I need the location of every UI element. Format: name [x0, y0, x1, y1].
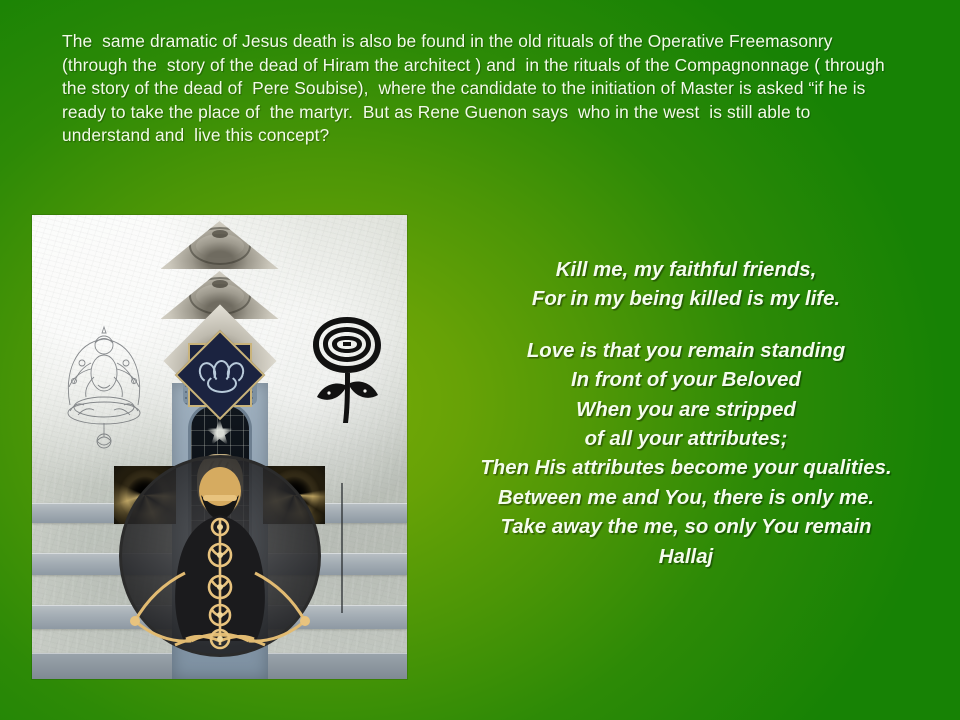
poem-line: Love is that you remain standing: [428, 337, 944, 366]
poem-line: For in my being killed is my life.: [428, 285, 944, 314]
plumb-line: [341, 483, 343, 613]
poem-line: When you are stripped: [428, 396, 944, 425]
poem-line: Then His attributes become your qualitie…: [428, 454, 944, 483]
eye-icon: [212, 230, 228, 238]
body-paragraph: The same dramatic of Jesus death is also…: [62, 30, 894, 148]
poem-block: Kill me, my faithful friends, For in my …: [428, 256, 944, 572]
poem-line: Between me and You, there is only me.: [428, 484, 944, 513]
all-seeing-eye-triangle-icon: [161, 221, 279, 269]
poem-attribution: Hallaj: [428, 543, 944, 572]
tibetan-deity-icon: [56, 319, 152, 451]
poem-line: Take away the me, so only You remain: [428, 513, 944, 542]
eye-icon: [212, 280, 228, 288]
eight-pointed-star-emblem: [188, 343, 252, 407]
presentation-slide: The same dramatic of Jesus death is also…: [0, 0, 960, 720]
meditating-chakra-figure-icon: [115, 455, 325, 661]
poem-line: In front of your Beloved: [428, 366, 944, 395]
arabic-calligraphy-icon: [198, 360, 242, 390]
calligraphy-rose-icon: [303, 311, 389, 427]
poem-stanza-gap: [428, 315, 944, 337]
esoteric-collage-image: [32, 215, 407, 679]
poem-line: of all your attributes;: [428, 425, 944, 454]
poem-line: Kill me, my faithful friends,: [428, 256, 944, 285]
